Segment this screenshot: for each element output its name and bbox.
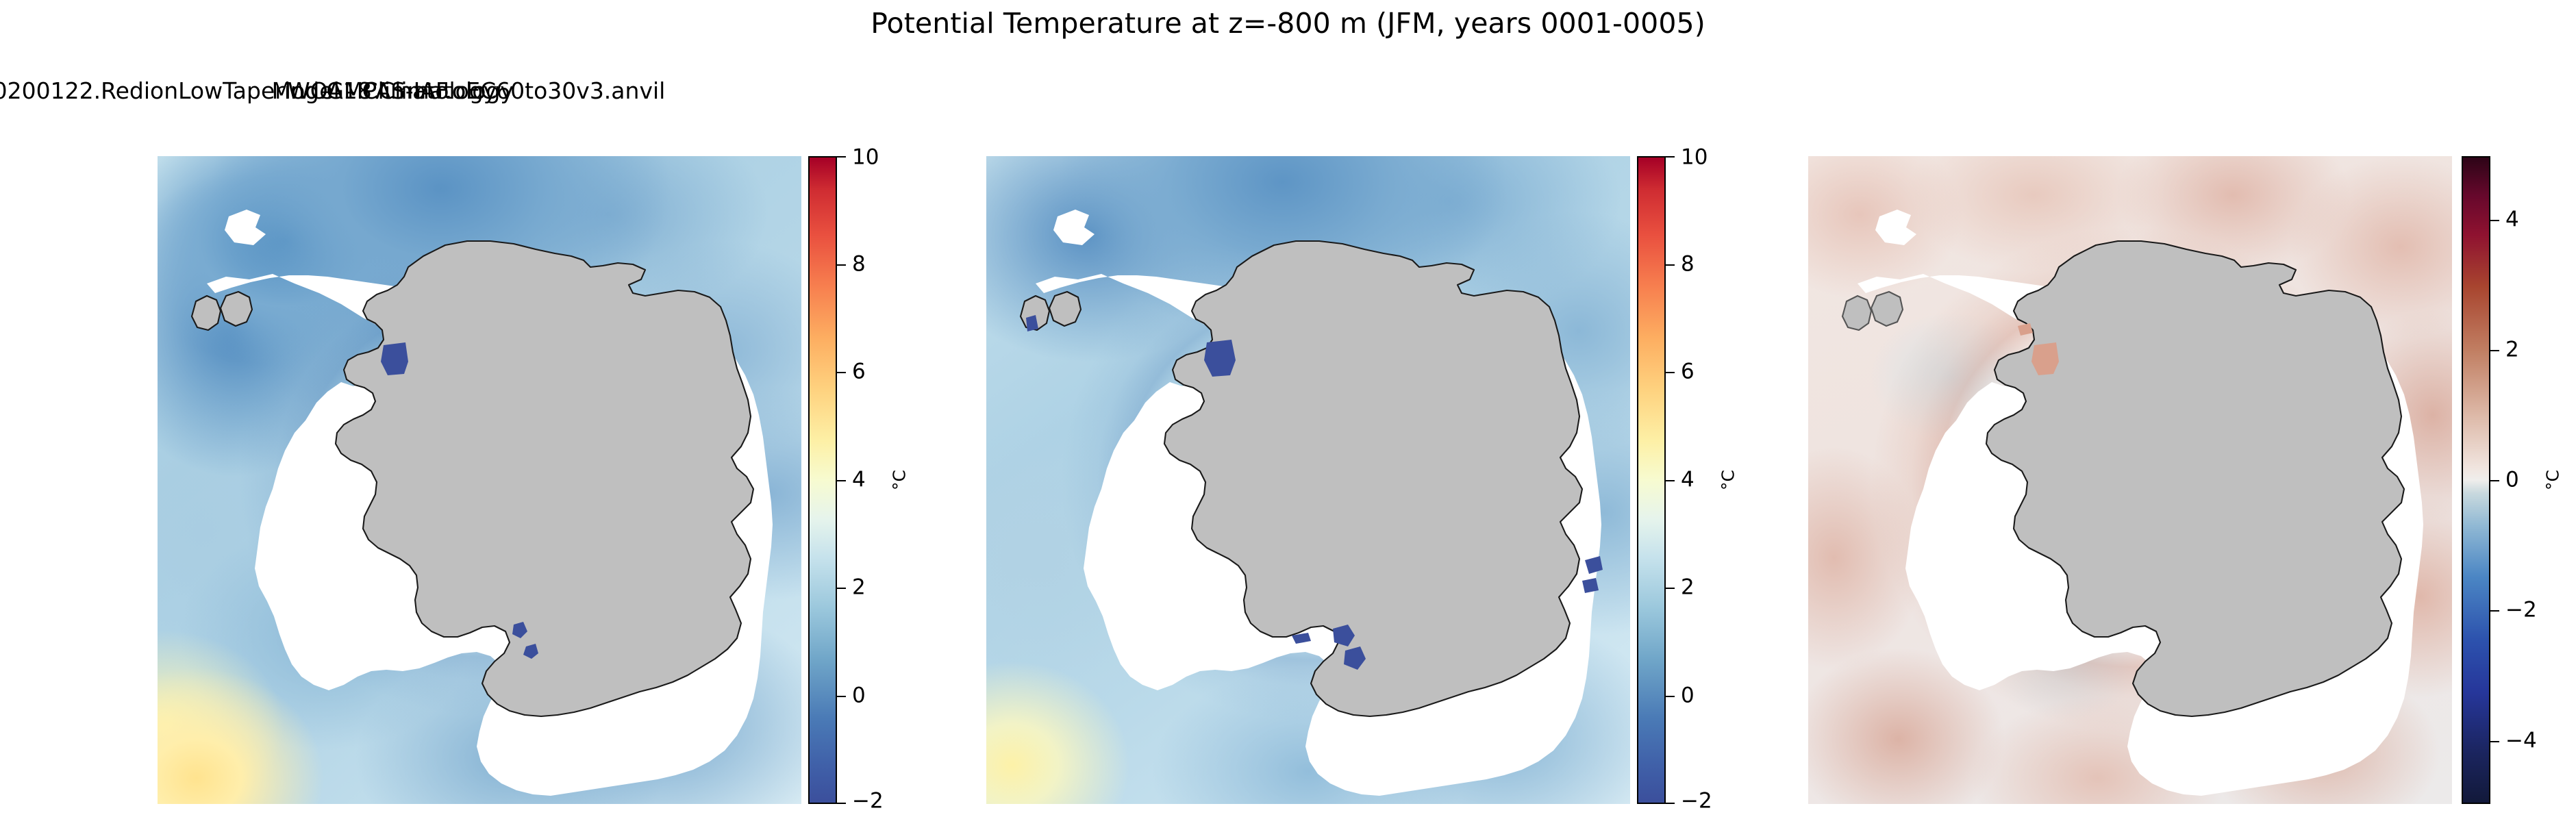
colorbar-tick <box>1666 264 1675 266</box>
colorbar-tick-label: 6 <box>1681 362 1695 383</box>
colorbar-tick <box>2490 350 2499 351</box>
map-canvas-model <box>158 156 801 804</box>
figure-suptitle: Potential Temperature at z=-800 m (JFM, … <box>0 4 2576 42</box>
colorbar-tick-label: 4 <box>852 470 866 491</box>
colorbar-tick <box>1666 156 1675 158</box>
colorbar-tick-label: 0 <box>852 686 866 707</box>
colorbar-unit-label: °C <box>1718 470 1738 490</box>
colorbar-tick-label: 0 <box>1681 686 1695 707</box>
colorbar-tick <box>1666 480 1675 481</box>
map-panel-difference <box>1808 156 2452 804</box>
map-panel-climatology <box>986 156 1630 804</box>
colorbar-tick <box>1666 588 1675 589</box>
colorbar-tick-label: 2 <box>852 577 866 599</box>
map-panel-model <box>158 156 801 804</box>
colorbar-tick <box>2490 220 2499 221</box>
colorbar-tick-label: 6 <box>852 362 866 383</box>
colorbar-tick-label: 2 <box>1681 577 1695 599</box>
panel-title-difference: Model - Climatology <box>0 74 768 108</box>
colorbar-tick-label: −2 <box>1681 791 1712 812</box>
colorbar-tick-label: 4 <box>1681 470 1695 491</box>
colorbar-tick <box>1666 372 1675 373</box>
antarctica-overlay-model <box>158 156 801 804</box>
colorbar-tick-label: 0 <box>2505 470 2519 491</box>
colorbar-tick <box>1666 696 1675 697</box>
antarctica-overlay-climatology <box>986 156 1630 804</box>
colorbar-unit-label: °C <box>2542 470 2562 490</box>
colorbar-gradient-difference <box>2462 156 2490 804</box>
colorbar-gradient-model <box>808 156 837 804</box>
colorbar-tick-label: −4 <box>2505 731 2537 752</box>
colorbar-tick <box>837 372 846 373</box>
colorbar-tick <box>837 264 846 266</box>
map-canvas-climatology <box>986 156 1630 804</box>
colorbar-tick-label: 10 <box>852 147 879 168</box>
map-canvas-difference <box>1808 156 2452 804</box>
colorbar-tick-label: 10 <box>1681 147 1708 168</box>
colorbar-tick-label: −2 <box>2505 600 2537 621</box>
colorbar-unit-label: °C <box>889 470 909 490</box>
colorbar-tick-label: 2 <box>2505 340 2519 361</box>
colorbar-tick-label: 8 <box>852 254 866 275</box>
colorbar-tick <box>837 156 846 158</box>
colorbar-tick <box>1666 803 1675 804</box>
colorbar-tick <box>837 480 846 481</box>
colorbar-gradient-climatology <box>1637 156 1666 804</box>
colorbar-tick <box>837 803 846 804</box>
colorbar-tick <box>837 696 846 697</box>
antarctica-overlay-difference <box>1808 156 2452 804</box>
colorbar-tick <box>837 588 846 589</box>
colorbar-tick <box>2490 741 2499 742</box>
colorbar-tick <box>2490 610 2499 612</box>
colorbar-tick <box>2490 480 2499 481</box>
colorbar-tick-label: 8 <box>1681 254 1695 275</box>
colorbar-tick-label: 4 <box>2505 210 2519 231</box>
colorbar-tick-label: −2 <box>852 791 884 812</box>
